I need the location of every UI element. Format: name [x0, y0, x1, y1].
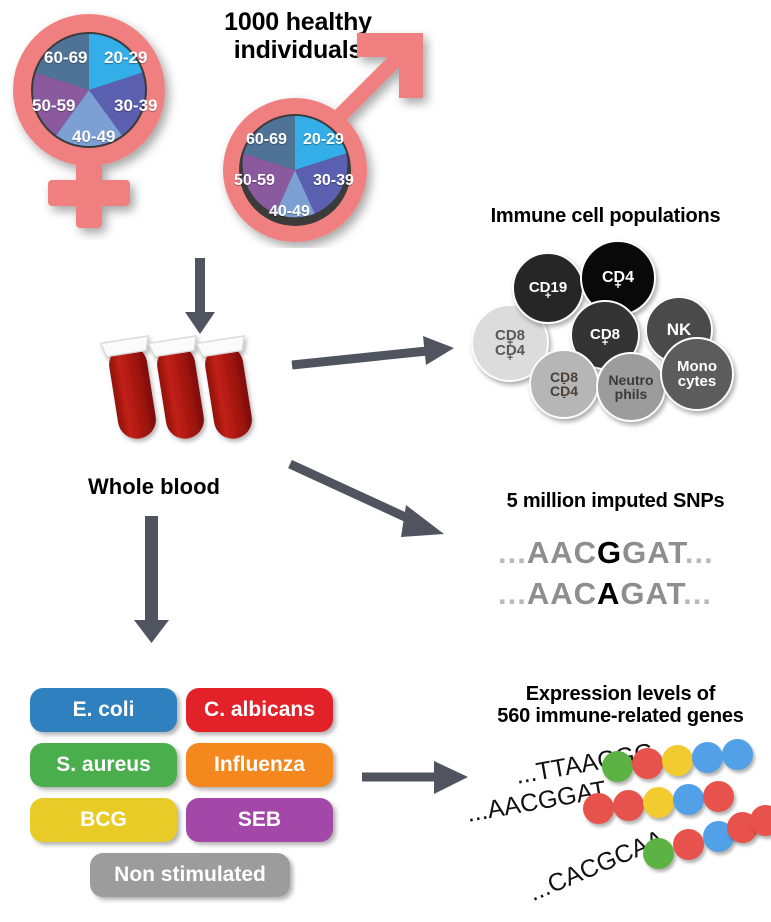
cell-label-line1: Neutro: [608, 373, 653, 387]
rna-bead: [722, 739, 753, 770]
rna-bead: [613, 790, 644, 821]
rna-bead: [673, 829, 704, 860]
pie-label-female-50-59: 50-59: [32, 96, 75, 116]
female-age-pie-chart: [4, 8, 214, 240]
rna-bead: [673, 784, 704, 815]
stimulus-influenza[interactable]: Influenza: [186, 743, 333, 787]
cell-label-line1: CD8+: [495, 328, 525, 343]
rna-bead: [643, 787, 674, 818]
immune-cell-cd19: CD19+: [512, 252, 584, 324]
snp-lead-dots: ...: [498, 535, 527, 570]
pie-label-female-60-69: 60-69: [44, 48, 87, 68]
pie-label-female-30-39: 30-39: [114, 96, 157, 116]
snps-heading: 5 million imputed SNPs: [460, 490, 771, 512]
stimulus-s-aureus[interactable]: S. aureus: [30, 743, 177, 787]
diagram-canvas: 1000 healthy individuals 60-69 20-29 50-…: [0, 0, 771, 922]
stimulus-label: S. aureus: [56, 753, 151, 777]
cell-label: CD8+: [590, 327, 620, 342]
arrow-stimuli-to-expression: [360, 752, 475, 802]
rna-bead: [602, 751, 633, 782]
stimulus-label: E. coli: [73, 698, 135, 722]
pie-label-male-60-69: 60-69: [246, 131, 287, 149]
arrow-blood-to-stimuli: [130, 516, 174, 646]
immune-cell-neutrophils: Neutro phils: [596, 352, 666, 422]
expression-heading-line1: Expression levels of: [470, 683, 771, 705]
immune-heading: Immune cell populations: [450, 205, 761, 227]
stimulus-label: SEB: [238, 808, 281, 832]
stimulus-seb[interactable]: SEB: [186, 798, 333, 842]
arrow-blood-to-snps: [288, 460, 463, 550]
stimulus-label: C. albicans: [204, 698, 315, 722]
whole-blood-tubes: [95, 325, 270, 455]
pie-label-male-40-49: 40-49: [269, 203, 310, 221]
snp-suffix: GAT: [620, 576, 683, 611]
stimulus-non-stimulated[interactable]: Non stimulated: [90, 853, 290, 897]
stimulus-bcg[interactable]: BCG: [30, 798, 177, 842]
rna-bead: [643, 838, 674, 869]
snp-prefix: AAC: [527, 535, 597, 570]
stimulus-label: Influenza: [214, 753, 305, 777]
rna-bead: [662, 745, 693, 776]
rna-bead: [583, 793, 614, 824]
immune-cell-cd8n-cd4n: CD8- CD4-: [529, 349, 599, 419]
cell-label-line2: phils: [608, 387, 653, 401]
cell-label-line2: CD4-: [550, 384, 578, 398]
stimulus-label: Non stimulated: [114, 863, 266, 887]
rna-bead: [703, 781, 734, 812]
snp-trail-dots: ...: [683, 576, 712, 611]
arrow-blood-to-immune: [290, 330, 460, 390]
snp-sequence-row-2: ...AACAGAT...: [498, 576, 712, 612]
snp-lead-dots: ...: [498, 576, 527, 611]
cell-label: CD19+: [529, 280, 567, 295]
expression-heading: Expression levels of 560 immune-related …: [470, 683, 771, 728]
stimulus-c-albicans[interactable]: C. albicans: [186, 688, 333, 732]
cell-label-line2: CD4+: [495, 343, 525, 358]
rna-bead: [632, 748, 663, 779]
snp-trail-dots: ...: [685, 535, 714, 570]
whole-blood-label: Whole blood: [88, 474, 220, 500]
immune-cell-monocytes: Mono cytes: [660, 337, 734, 411]
cell-label: NK: [667, 321, 692, 338]
snp-variant-allele: G: [597, 535, 622, 570]
cell-label-line1: Mono: [677, 359, 717, 374]
snp-variant-allele: A: [597, 576, 620, 611]
rna-bead: [692, 742, 723, 773]
rna-strand-3-sequence: ...CACGCAA: [524, 825, 668, 908]
snp-suffix: GAT: [622, 535, 685, 570]
pie-label-female-20-29: 20-29: [104, 48, 147, 68]
cell-label-line2: cytes: [677, 374, 717, 389]
stimulus-e-coli[interactable]: E. coli: [30, 688, 177, 732]
pie-label-male-30-39: 30-39: [313, 172, 354, 190]
pie-label-male-20-29: 20-29: [303, 131, 344, 149]
snp-prefix: AAC: [527, 576, 597, 611]
snp-sequence-row-1: ...AACGGAT...: [498, 535, 714, 571]
pie-label-female-40-49: 40-49: [72, 127, 115, 147]
expression-heading-line2: 560 immune-related genes: [470, 705, 771, 727]
cell-label-line1: CD8-: [550, 370, 578, 384]
cell-label: CD4+: [602, 270, 634, 286]
pie-label-male-50-59: 50-59: [234, 172, 275, 190]
stimulus-label: BCG: [80, 808, 127, 832]
